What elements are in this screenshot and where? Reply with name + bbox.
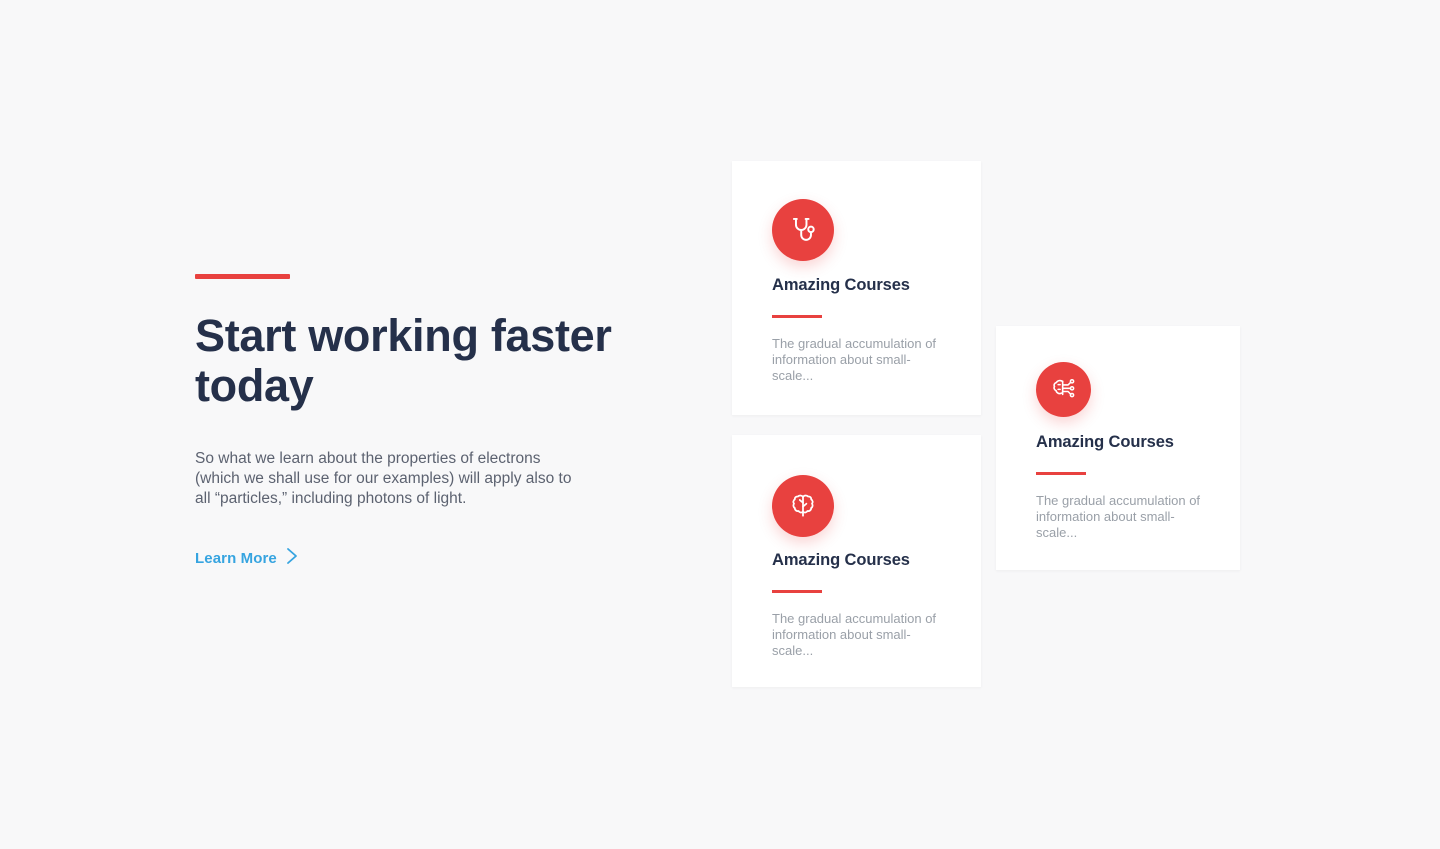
card-title: Amazing Courses bbox=[1036, 433, 1216, 452]
page-title: Start working faster today bbox=[195, 279, 625, 411]
learn-more-label: Learn More bbox=[195, 550, 277, 567]
learn-more-link[interactable]: Learn More bbox=[195, 547, 299, 570]
stethoscope-icon bbox=[772, 199, 834, 261]
chevron-right-icon bbox=[286, 547, 299, 570]
card-body: The gradual accumulation of information … bbox=[772, 611, 948, 659]
brain-icon bbox=[772, 475, 834, 537]
card-rule bbox=[772, 315, 822, 318]
card-rule bbox=[772, 590, 822, 593]
ai-brain-circuit-icon bbox=[1036, 362, 1091, 417]
page-canvas: Start working faster today So what we le… bbox=[0, 0, 1440, 849]
hero-section: Start working faster today So what we le… bbox=[195, 274, 665, 570]
card-rule bbox=[1036, 472, 1086, 475]
card-text-group: Amazing Courses The gradual accumulation… bbox=[1036, 433, 1216, 541]
card-text-group: Amazing Courses The gradual accumulation… bbox=[772, 276, 952, 384]
card-body: The gradual accumulation of information … bbox=[772, 336, 948, 384]
card-text-group: Amazing Courses The gradual accumulation… bbox=[772, 551, 952, 659]
hero-description: So what we learn about the properties of… bbox=[195, 411, 575, 509]
card-title: Amazing Courses bbox=[772, 551, 952, 570]
card-title: Amazing Courses bbox=[772, 276, 952, 295]
card-body: The gradual accumulation of information … bbox=[1036, 493, 1212, 541]
